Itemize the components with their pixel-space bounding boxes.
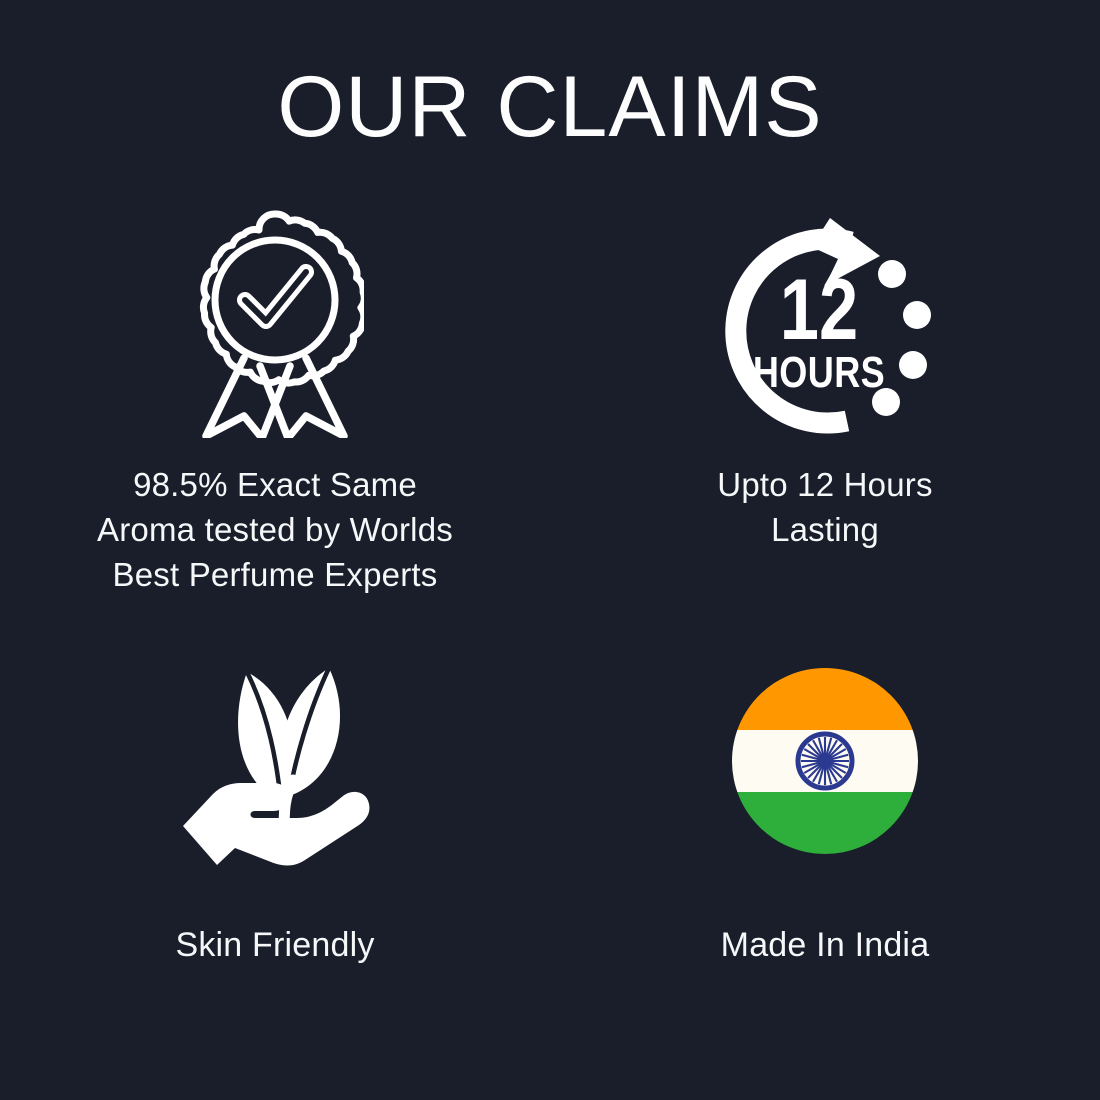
claim-caption: 98.5% Exact Same Aroma tested by Worlds … [97,463,453,598]
claim-item-skin-friendly: Skin Friendly [0,630,550,1060]
claims-grid: 98.5% Exact Same Aroma tested by Worlds … [0,200,1100,1060]
ashoka-chakra [798,734,852,788]
claim-item-long-lasting: 12 HOURS Upto 12 Hours Lasting [550,200,1100,630]
twelve-hours-label: HOURS [753,347,885,396]
page-title: OUR CLAIMS [0,62,1100,152]
our-claims-banner: OUR CLAIMS [0,0,1100,1100]
twelve-hours-icon: 12 HOURS [714,212,936,434]
claim-item-aroma-accuracy: 98.5% Exact Same Aroma tested by Worlds … [0,200,550,630]
dot-1 [878,260,906,288]
india-flag-circle-icon [732,668,918,854]
claim-caption: Upto 12 Hours Lasting [717,463,932,553]
claim-icon-wrapper [732,636,918,886]
quality-badge-icon [186,208,364,438]
twelve-hours-number: 12 [780,261,858,357]
claim-item-made-in-india: Made In India [550,630,1100,1060]
claim-caption: Skin Friendly [175,922,374,968]
claim-icon-wrapper: 12 HOURS [714,200,936,445]
claim-icon-wrapper [177,636,373,886]
dot-3 [899,351,927,379]
dot-2 [903,301,931,329]
claim-caption: Made In India [721,922,930,968]
claim-icon-wrapper [186,200,364,445]
hand-holding-plant-icon [177,656,373,866]
